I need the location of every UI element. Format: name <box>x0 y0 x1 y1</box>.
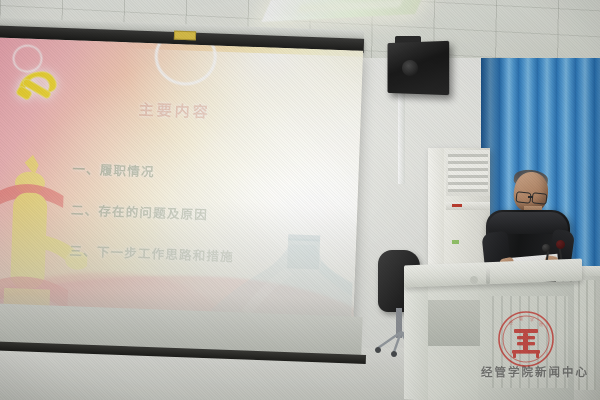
projection-screen-assembly: 主要内容 一、履职情况 二、存在的问题及原因 三、下一步工作思路和措施 <box>0 14 368 344</box>
wall-mounted-speaker <box>388 41 450 95</box>
eyeglasses-bridge-icon <box>528 196 533 198</box>
ac-power-led-icon <box>452 204 462 207</box>
presentation-room-photo: 主要内容 一、履职情况 二、存在的问题及原因 三、下一步工作思路和措施 <box>0 0 600 400</box>
slide-item-3: 三、下一步工作思路和措施 <box>69 240 320 268</box>
svg-text:经: 经 <box>509 319 513 325</box>
speaker-cone-icon <box>402 60 418 76</box>
eyeglasses-right-lens-icon <box>531 192 547 205</box>
svg-text:院: 院 <box>539 321 543 327</box>
podium-pen <box>486 268 490 284</box>
ac-status-led-icon <box>452 240 459 244</box>
projection-screen: 主要内容 一、履职情况 二、存在的问题及原因 三、下一步工作思路和措施 <box>0 37 363 332</box>
svg-text:管: 管 <box>519 315 523 321</box>
watermark-text: 经管学院新闻中心 <box>476 364 594 380</box>
podium-left-side <box>404 277 428 400</box>
table-microphone-black <box>542 244 550 252</box>
podium-knob <box>470 276 478 284</box>
table-microphone-red <box>556 240 565 249</box>
svg-text:学: 学 <box>530 316 534 322</box>
rail-label-sticker <box>174 31 196 41</box>
podium-inner-shelf <box>428 300 480 346</box>
ac-louvers <box>448 154 488 192</box>
ac-side-edge <box>428 148 444 276</box>
slide-item-2: 二、存在的问题及原因 <box>71 199 322 227</box>
red-circular-seal: 经管学院 <box>497 310 555 368</box>
slide-outline-list: 一、履职情况 二、存在的问题及原因 三、下一步工作思路和措施 <box>68 158 322 290</box>
